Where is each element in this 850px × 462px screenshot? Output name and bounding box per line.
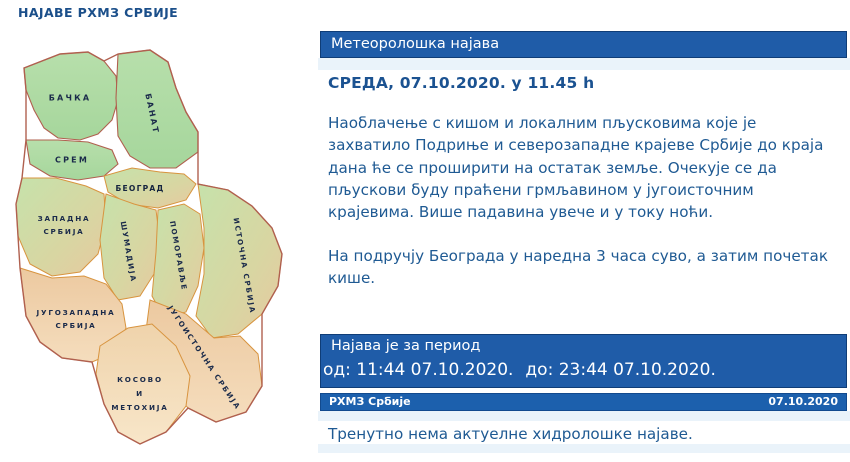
region-banat[interactable]	[116, 50, 198, 168]
meteo-paragraph-1: Наоблачење с кишом и локалним пљусковима…	[328, 112, 840, 224]
map-label-kosovo-line2: И	[136, 389, 144, 398]
period-block: Најава је за период од: 11:44 07.10.2020…	[320, 334, 847, 388]
map-label-jugozapadna-srbija-line1: ЈУГОЗАПАДНА	[36, 308, 116, 317]
map-label-beograd: БЕОГРАД	[116, 184, 165, 193]
source-date: 07.10.2020	[768, 395, 838, 408]
meteo-header-bar: Метеоролошка најава	[320, 31, 847, 58]
meteo-header-label: Метеоролошка најава	[331, 36, 499, 52]
period-title: Најава је за период	[331, 338, 480, 354]
map-label-backa: БАЧКА	[49, 94, 91, 103]
period-to: до: 23:44 07.10.2020.	[525, 360, 715, 380]
region-istocna-srbija[interactable]	[196, 184, 282, 338]
meteo-date-line: СРЕДА, 07.10.2020. у 11.45 h	[328, 74, 594, 92]
meteo-paragraph-2: На подручју Београда у наредна 3 часа су…	[328, 245, 840, 290]
map-label-zapadna-srbija-line1: ЗАПАДНА	[38, 214, 91, 223]
map-label-srem: СРЕМ	[55, 156, 89, 165]
period-range: од: 11:44 07.10.2020.до: 23:44 07.10.202…	[323, 360, 716, 380]
page-title: НАЈАВЕ РХМЗ СРБИЈЕ	[18, 5, 178, 20]
source-bar: РХМЗ Србије 07.10.2020	[320, 393, 847, 411]
hydro-top-band	[318, 411, 850, 421]
hydro-message: Тренутно нема актуелне хидролошке најаве…	[328, 424, 840, 445]
announcement-panel: Метеоролошка најава СРЕДА, 07.10.2020. у…	[318, 0, 850, 462]
meteo-body: Наоблачење с кишом и локалним пљусковима…	[328, 112, 840, 289]
serbia-regions-map[interactable]: БАЧКА БАНАТ СРЕМ БЕОГРАД ЗАПАДНА СРБИЈА …	[0, 28, 318, 462]
hydro-bottom-band	[318, 444, 850, 453]
source-name: РХМЗ Србије	[329, 395, 411, 408]
map-label-zapadna-srbija-line2: СРБИЈА	[43, 227, 84, 236]
meteo-header-underband	[318, 58, 850, 70]
map-label-jugozapadna-srbija-line2: СРБИЈА	[55, 321, 96, 330]
map-panel: БАЧКА БАНАТ СРЕМ БЕОГРАД ЗАПАДНА СРБИЈА …	[0, 28, 318, 462]
period-from: од: 11:44 07.10.2020.	[323, 360, 513, 380]
map-label-kosovo-line3: МЕТОХИЈА	[111, 403, 168, 412]
map-label-kosovo-line1: КОСОВО	[117, 375, 163, 384]
